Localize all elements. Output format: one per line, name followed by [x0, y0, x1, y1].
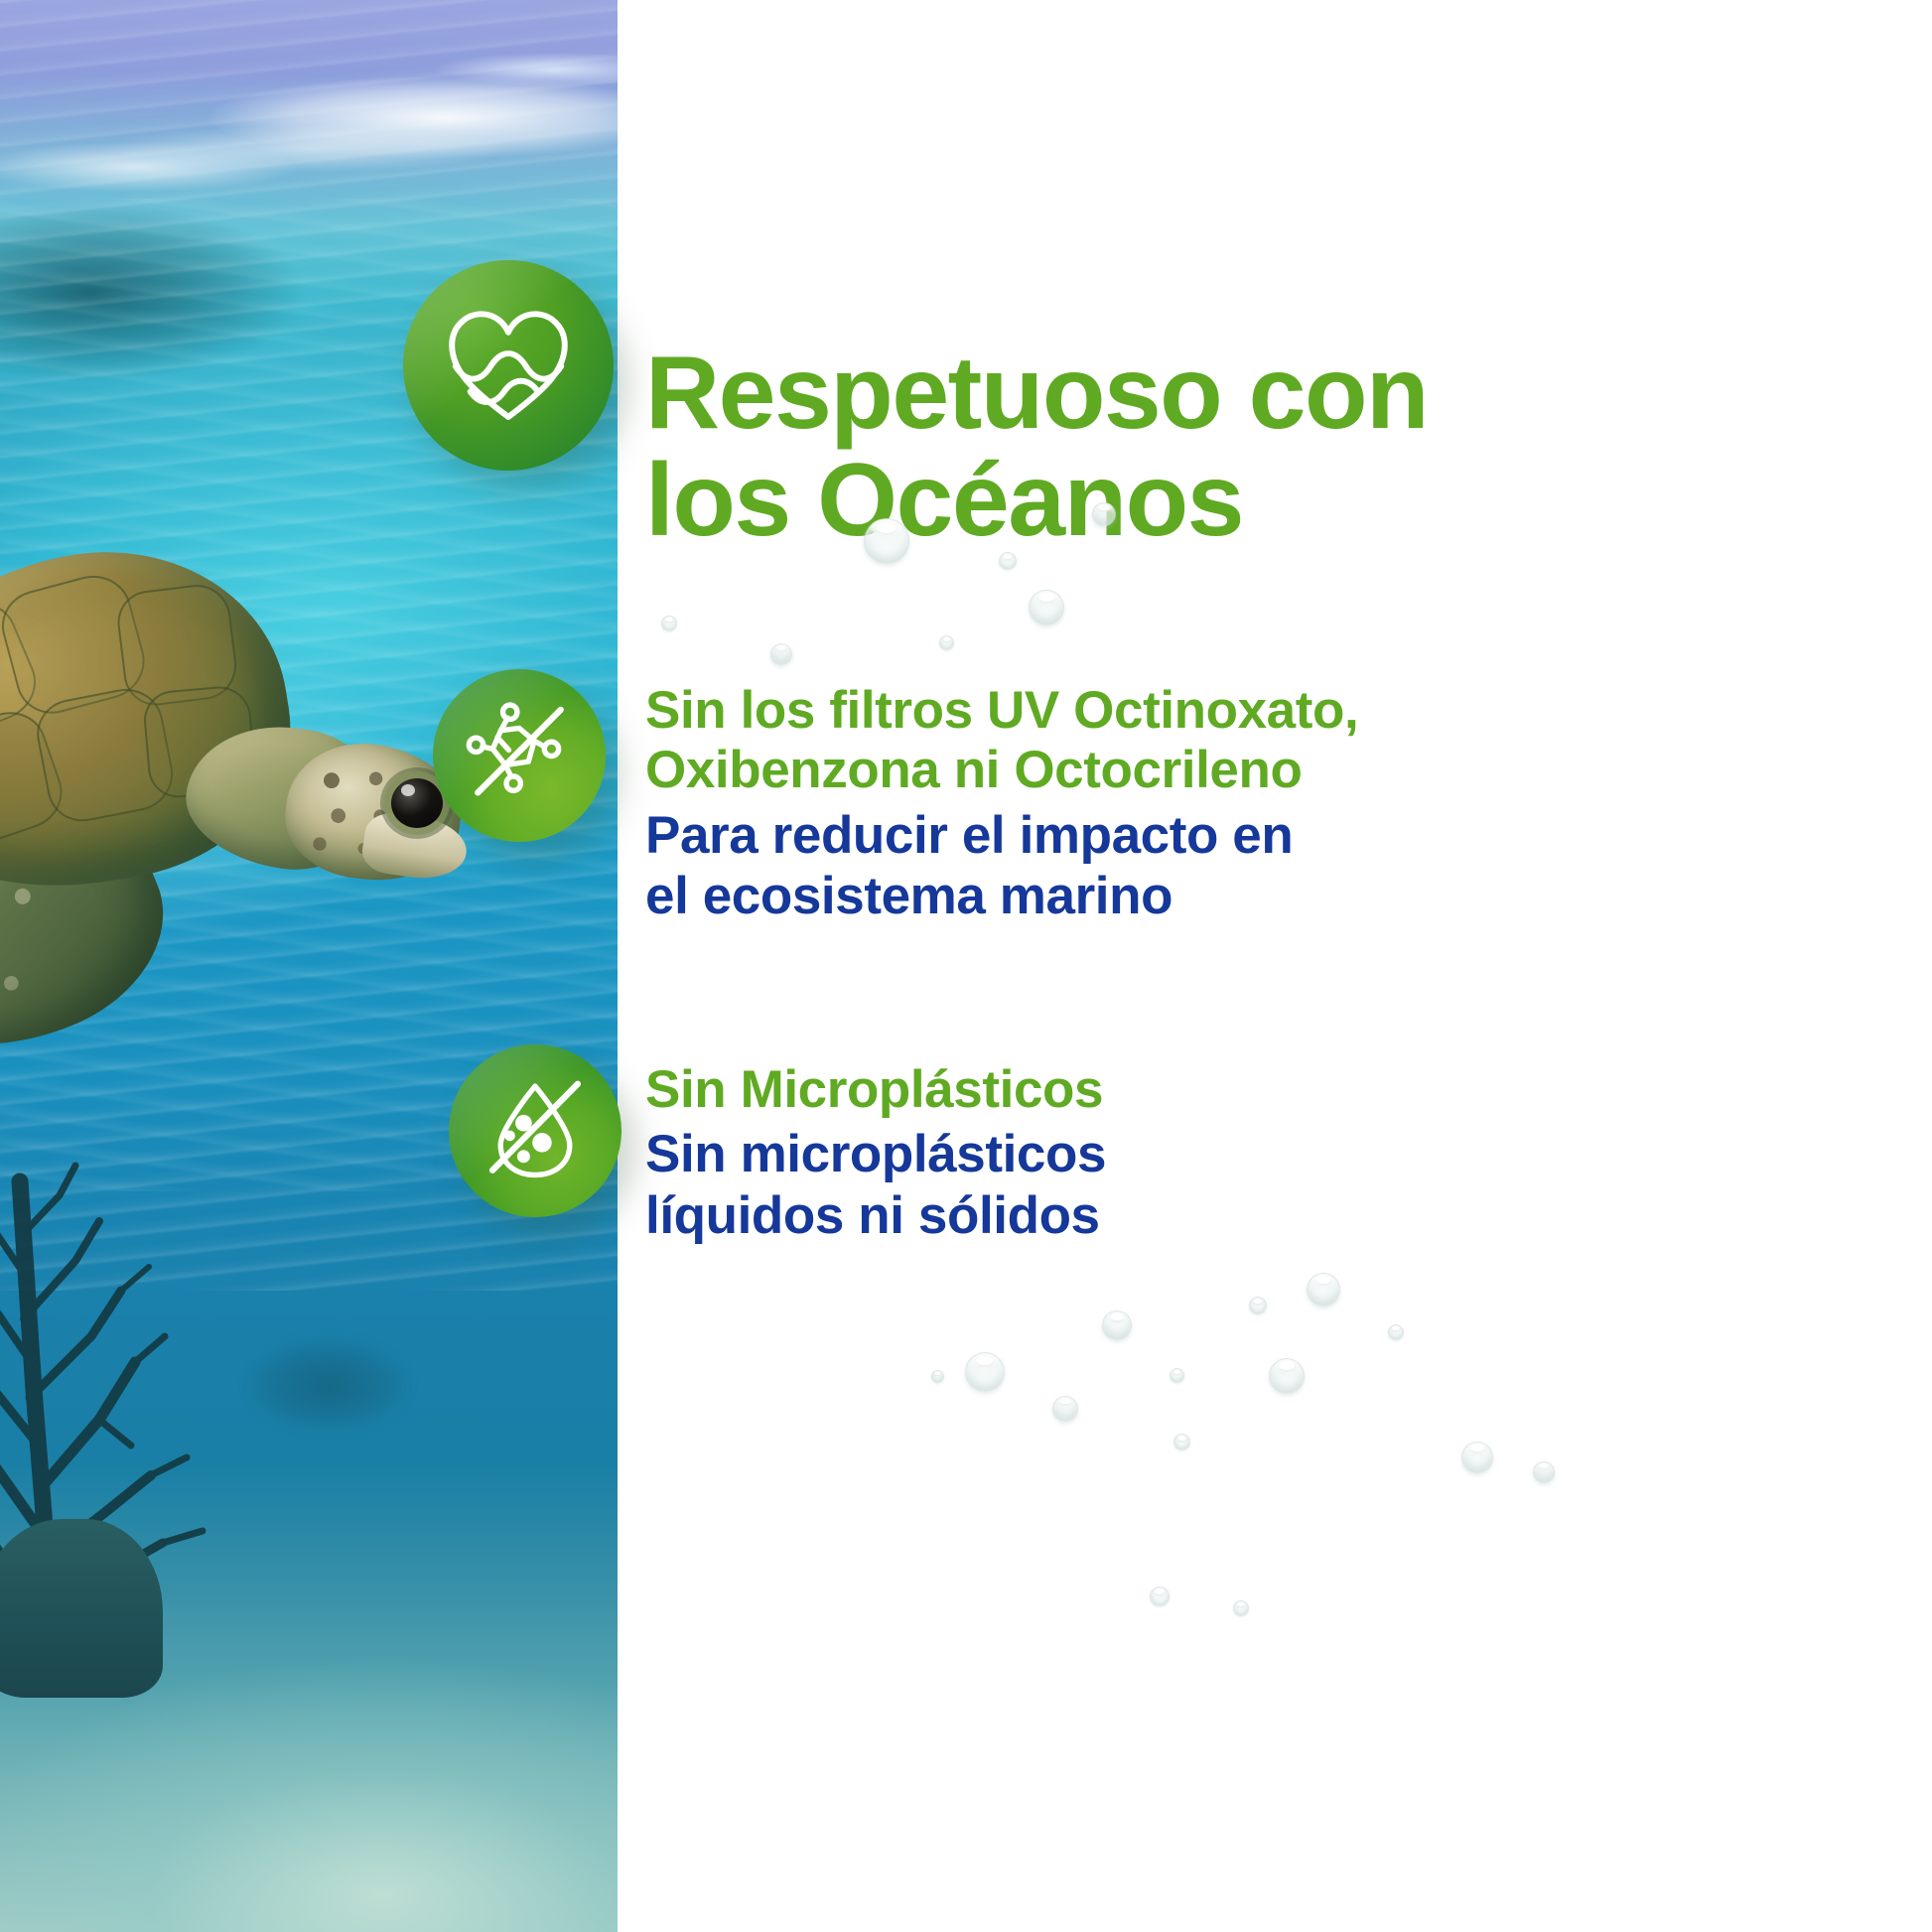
- water-bubble: [661, 616, 677, 631]
- water-bubble: [1092, 502, 1116, 526]
- water-bubble: [1388, 1324, 1404, 1340]
- water-bubble: [1533, 1461, 1555, 1483]
- content-panel: [618, 0, 1932, 1932]
- water-bubble: [1233, 1600, 1249, 1616]
- badge-no-uv-filters: [433, 669, 606, 842]
- water-bubble: [1150, 1587, 1170, 1606]
- water-bubble: [1269, 1358, 1305, 1394]
- water-bubble: [939, 635, 954, 650]
- coral-fan: [0, 1142, 278, 1698]
- turtle-eye: [391, 778, 443, 828]
- infographic-canvas: Respetuoso con los Océanos Sin los filtr…: [0, 0, 1932, 1932]
- feature-body: Sin microplásticos líquidos ni sólidos: [645, 1124, 1469, 1246]
- badge-no-microplastics: [449, 1044, 621, 1217]
- water-bubble: [931, 1370, 944, 1383]
- water-bubble: [1029, 590, 1064, 625]
- water-bubble: [1102, 1311, 1132, 1340]
- water-bubble: [770, 643, 792, 665]
- water-bubble: [999, 552, 1017, 570]
- water-bubble: [1249, 1297, 1267, 1314]
- badge-ocean-friendly: [403, 260, 614, 471]
- page-title: Respetuoso con los Océanos: [645, 340, 1519, 554]
- water-bubble: [1461, 1442, 1493, 1473]
- microplastic-droplet-crossed-out-icon: [478, 1071, 593, 1191]
- feature-body: Para reducir el impacto en el ecosistema…: [645, 805, 1469, 927]
- water-bubble: [1052, 1396, 1078, 1422]
- water-bubble: [1170, 1368, 1184, 1383]
- coral-base-rock: [0, 1519, 163, 1698]
- sea-turtle: [0, 556, 526, 1072]
- water-bubble: [864, 518, 909, 564]
- heart-waves-icon: [438, 293, 579, 439]
- water-bubble: [1173, 1434, 1190, 1450]
- feature-headline: Sin los filtros UV Octinoxato, Oxibenzon…: [645, 681, 1469, 801]
- molecule-crossed-out-icon: [462, 696, 577, 816]
- feature-block-no-uv-filters: Sin los filtros UV Octinoxato, Oxibenzon…: [645, 681, 1469, 927]
- turtle-eye-glint: [401, 784, 415, 796]
- feature-block-no-microplastics: Sin Microplásticos Sin microplásticos lí…: [645, 1060, 1469, 1246]
- water-bubble: [1307, 1273, 1340, 1307]
- feature-headline: Sin Microplásticos: [645, 1060, 1469, 1120]
- water-bubble: [965, 1352, 1005, 1392]
